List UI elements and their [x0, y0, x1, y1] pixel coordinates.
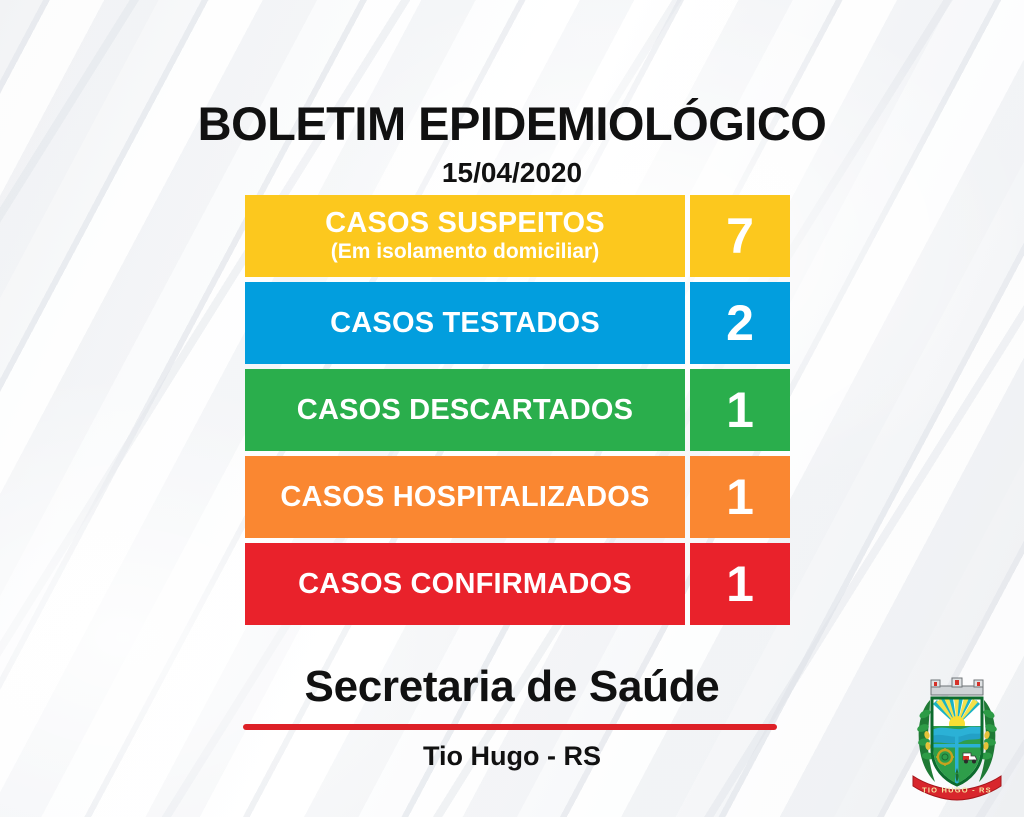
table-row: CASOS CONFIRMADOS1 [245, 543, 790, 625]
organization-name: Secretaria de Saúde [0, 664, 1024, 710]
row-label-casos-descartados: CASOS DESCARTADOS [245, 369, 685, 451]
row-label-text: CASOS CONFIRMADOS [298, 569, 632, 599]
location-label: Tio Hugo - RS [0, 742, 1024, 772]
footer-divider [243, 724, 777, 730]
row-value-casos-testados: 2 [690, 282, 790, 364]
row-value-casos-descartados: 1 [690, 369, 790, 451]
row-label-casos-hospitalizados: CASOS HOSPITALIZADOS [245, 456, 685, 538]
row-value-casos-suspeitos: 7 [690, 195, 790, 277]
epidemiological-bulletin-poster: BOLETIM EPIDEMIOLÓGICO 15/04/2020 CASOS … [0, 0, 1024, 817]
row-value-casos-hospitalizados: 1 [690, 456, 790, 538]
svg-text:TIO HUGO - RS: TIO HUGO - RS [922, 786, 992, 795]
row-label-casos-confirmados: CASOS CONFIRMADOS [245, 543, 685, 625]
table-row: CASOS SUSPEITOS(Em isolamento domiciliar… [245, 195, 790, 277]
table-row: CASOS TESTADOS2 [245, 282, 790, 364]
row-value-casos-confirmados: 1 [690, 543, 790, 625]
row-label-text: CASOS SUSPEITOS [325, 208, 605, 238]
bulletin-date: 15/04/2020 [0, 158, 1024, 189]
row-label-casos-suspeitos: CASOS SUSPEITOS(Em isolamento domiciliar… [245, 195, 685, 277]
municipal-coat-of-arms-icon: TIO HUGO - RS [903, 672, 1011, 808]
row-sublabel-text: (Em isolamento domiciliar) [331, 240, 599, 264]
row-label-text: CASOS DESCARTADOS [297, 395, 633, 425]
table-row: CASOS DESCARTADOS1 [245, 369, 790, 451]
row-label-text: CASOS HOSPITALIZADOS [280, 482, 649, 512]
row-label-casos-testados: CASOS TESTADOS [245, 282, 685, 364]
row-label-text: CASOS TESTADOS [330, 308, 600, 338]
page-title: BOLETIM EPIDEMIOLÓGICO [0, 99, 1024, 148]
cases-table: CASOS SUSPEITOS(Em isolamento domiciliar… [245, 195, 790, 625]
table-row: CASOS HOSPITALIZADOS1 [245, 456, 790, 538]
